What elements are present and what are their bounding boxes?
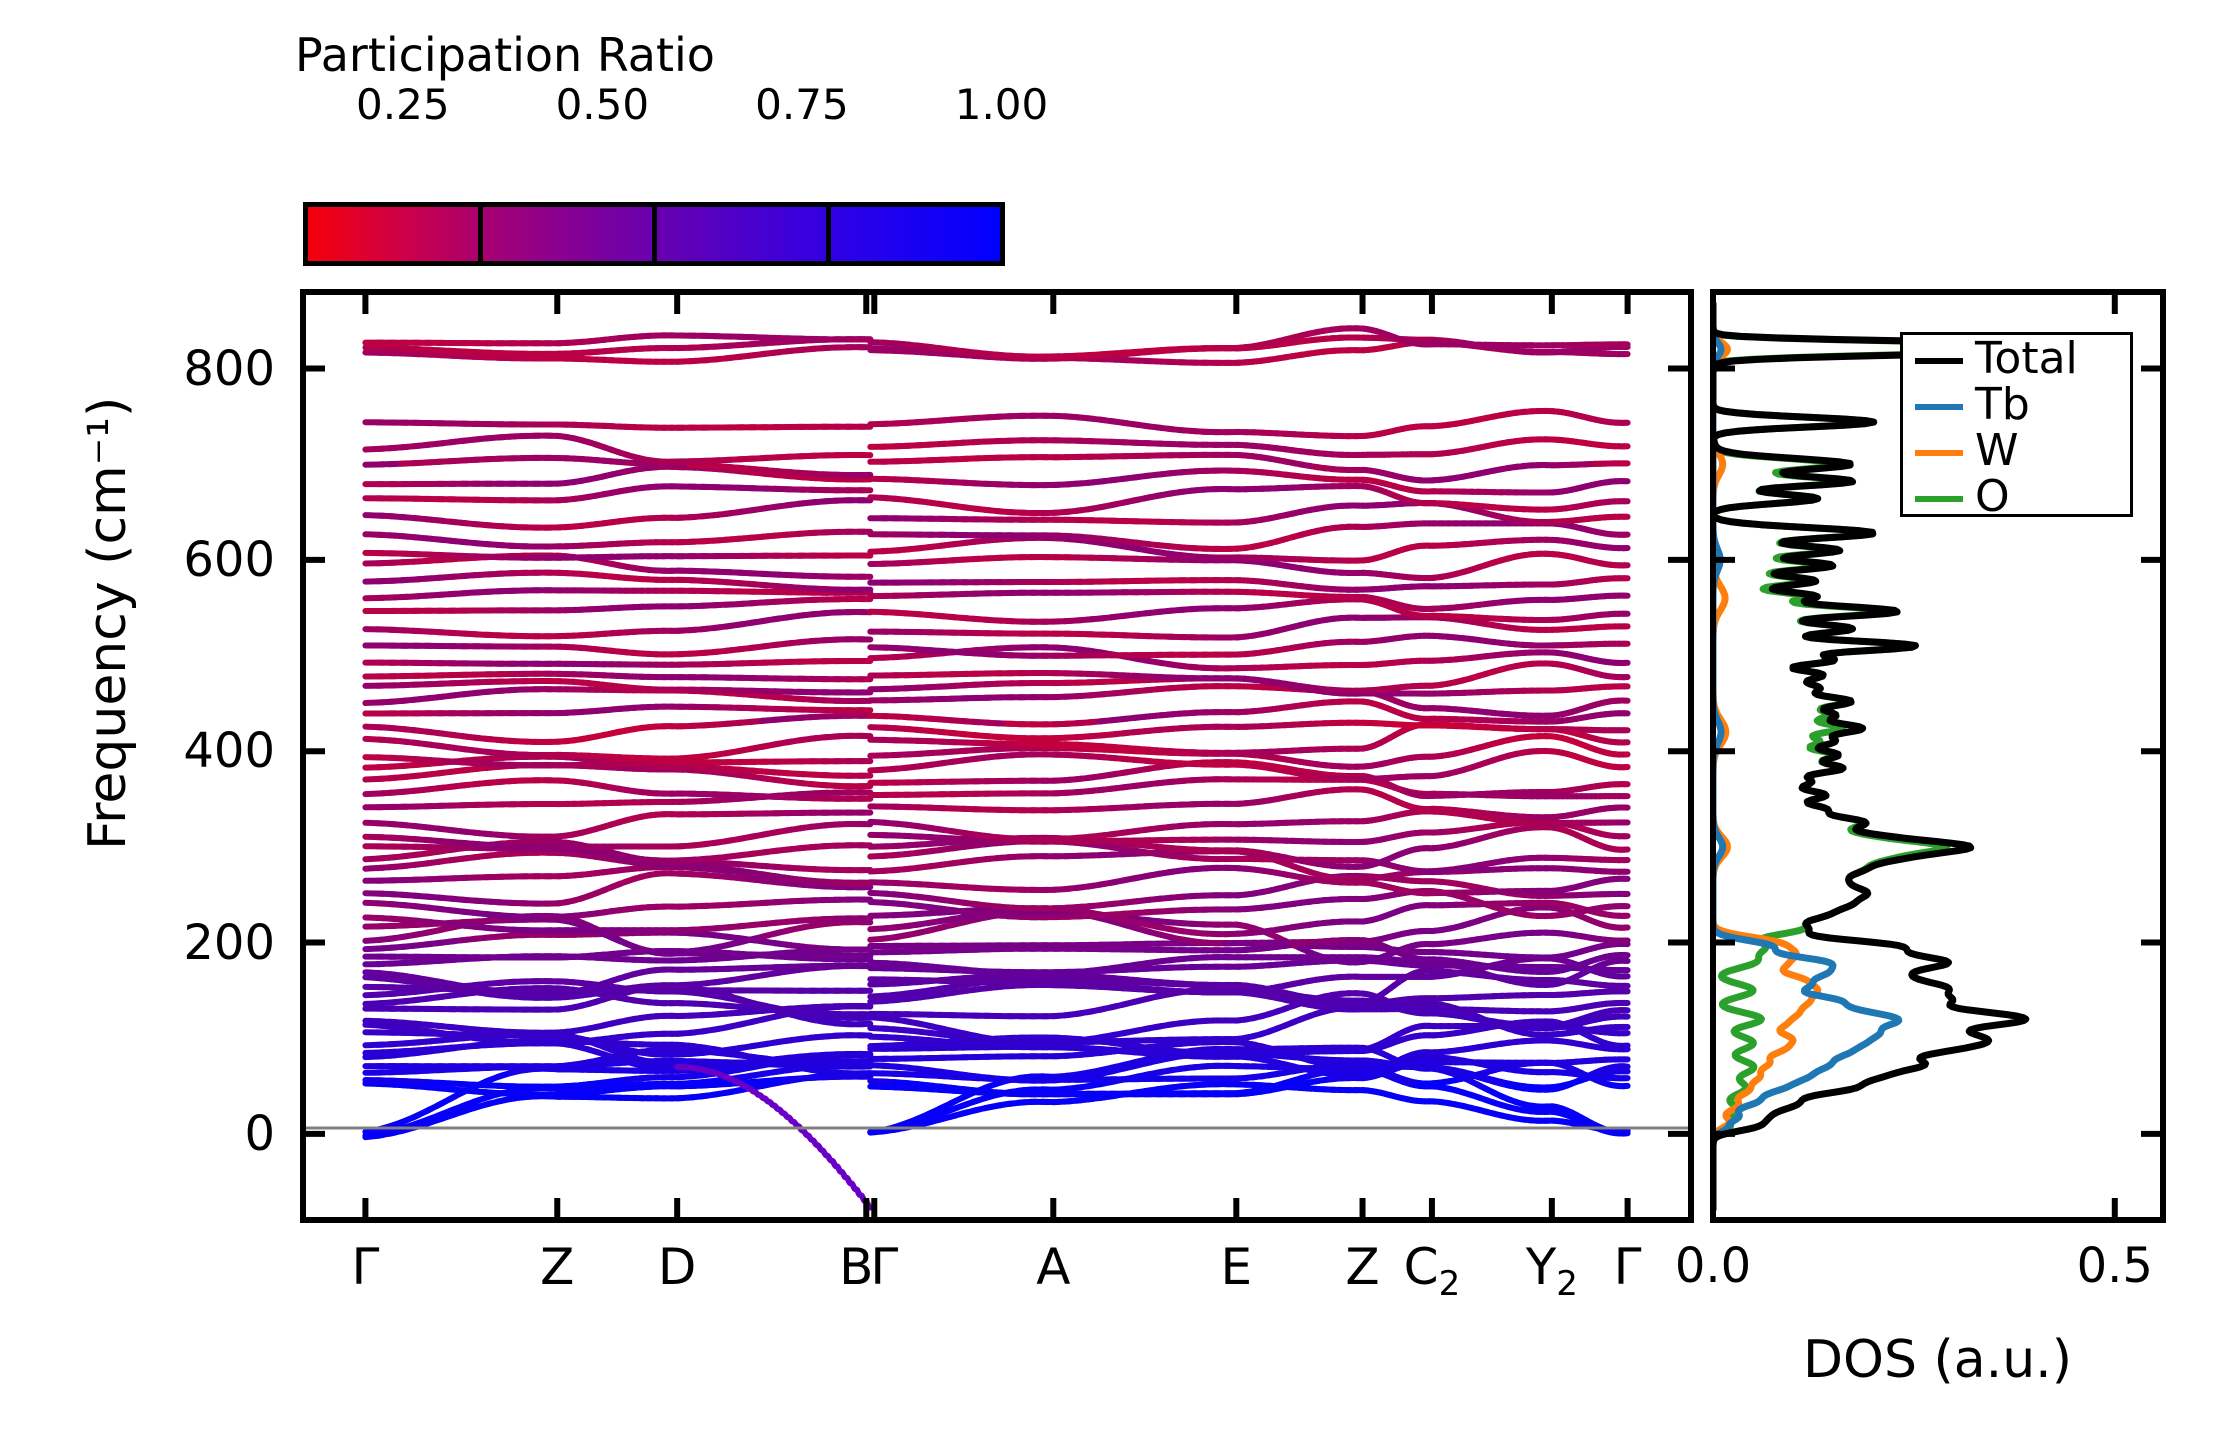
band-segment (858, 1024, 870, 1025)
plot-area (0, 0, 2235, 1455)
phonon-band-curves (365, 328, 1627, 1207)
figure-canvas: Participation Ratio 0.250.500.751.00 Fre… (0, 0, 2235, 1455)
